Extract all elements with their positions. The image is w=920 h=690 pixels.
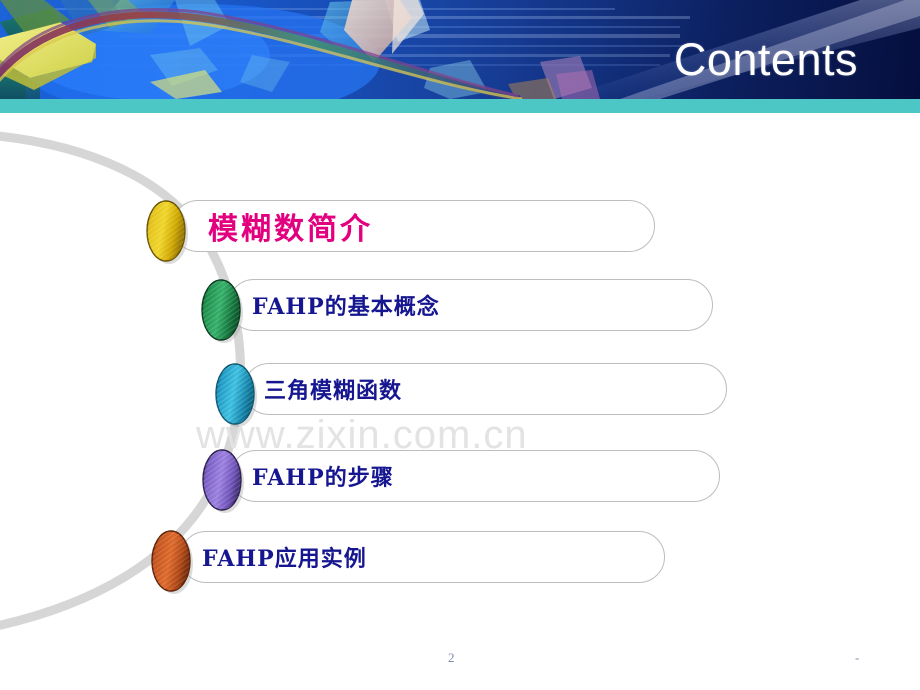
contents-label-4: FAHP的步骤	[252, 460, 394, 492]
footer-mark: -	[855, 650, 859, 666]
contents-label-2: FAHP的基本概念	[252, 289, 440, 321]
bullet-ellipse-purple	[199, 445, 247, 517]
contents-row-4[interactable]: FAHP的步骤	[230, 450, 720, 502]
slide-header: Contents	[0, 0, 920, 99]
contents-row-3[interactable]: 三角模糊函数	[243, 363, 727, 415]
contents-row-1[interactable]: 模糊数简介	[172, 200, 655, 252]
contents-label-3: 三角模糊函数	[264, 373, 402, 405]
slide-canvas: Contents www.zixin.com.cn 模糊数简介	[0, 0, 920, 690]
header-accent-band	[0, 99, 920, 113]
bullet-ellipse-green	[198, 275, 246, 347]
contents-row-2[interactable]: FAHP的基本概念	[228, 279, 713, 331]
bullet-ellipse-gold	[143, 196, 191, 268]
slide-body: www.zixin.com.cn 模糊数简介	[0, 113, 920, 690]
contents-label-5: FAHP应用实例	[202, 541, 367, 573]
contents-label-1: 模糊数简介	[208, 204, 373, 248]
contents-row-5[interactable]: FAHP应用实例	[180, 531, 665, 583]
bullet-ellipse-cyan	[212, 359, 260, 431]
bullet-ellipse-orange	[148, 526, 196, 598]
page-title: Contents	[674, 33, 858, 87]
page-number: 2	[448, 650, 455, 666]
